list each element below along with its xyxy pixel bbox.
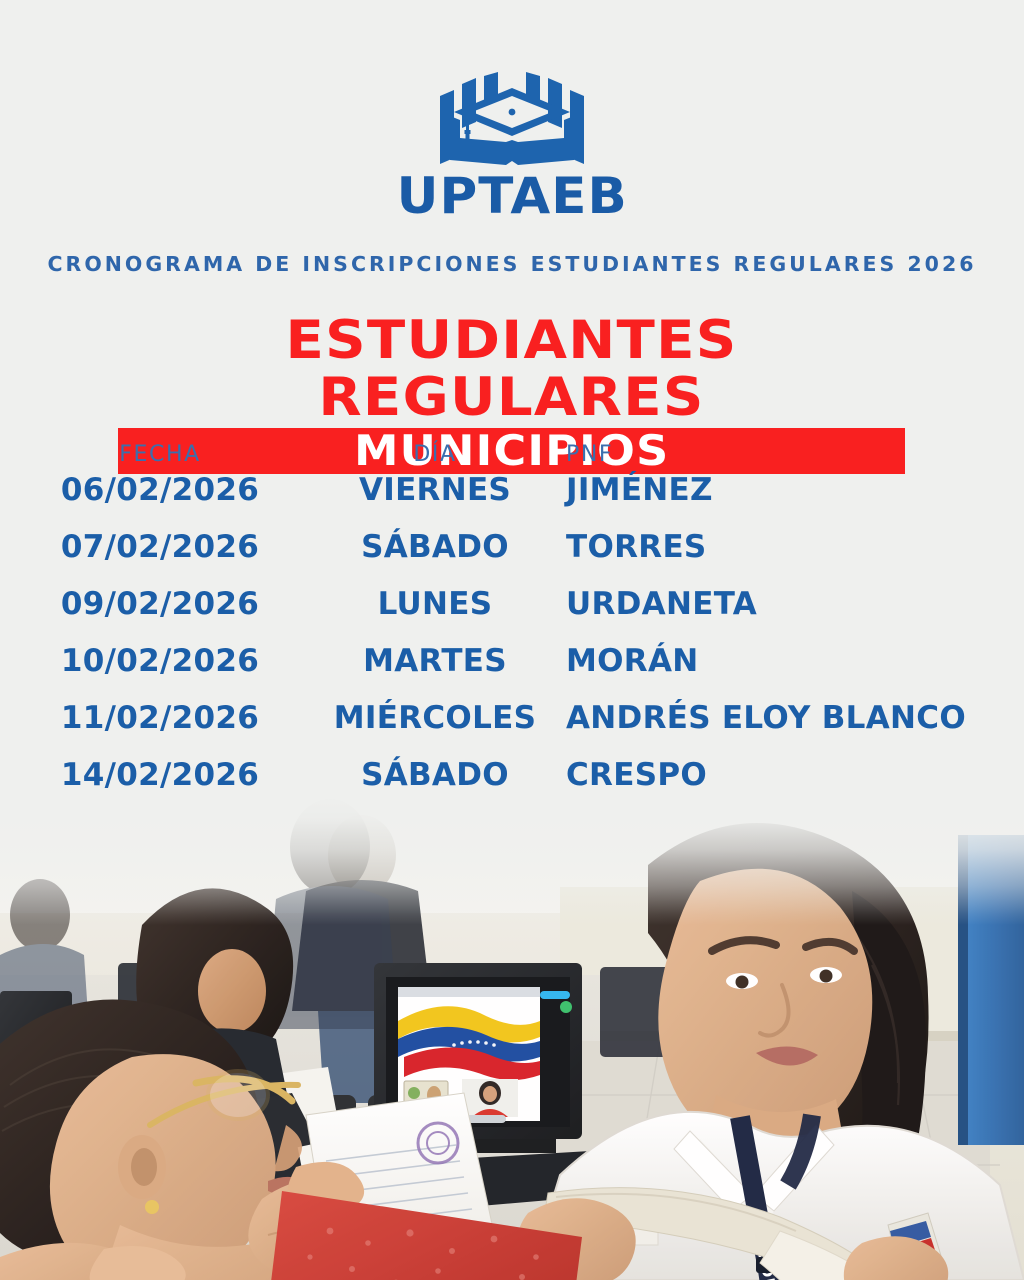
brand-wordmark: UPTAEB: [396, 171, 627, 221]
cell-dia: VIERNES: [320, 472, 550, 508]
cell-dia: SÁBADO: [320, 757, 550, 793]
table-row: 10/02/2026 MARTES MORÁN: [0, 643, 1024, 700]
table-row: 07/02/2026 SÁBADO TORRES: [0, 529, 1024, 586]
title-primary: ESTUDIANTES REGULARES: [94, 312, 928, 426]
cell-dia: SÁBADO: [320, 529, 550, 565]
cell-pnf: ANDRÉS ELOY BLANCO: [550, 700, 1024, 736]
cell-pnf: CRESPO: [550, 757, 1024, 793]
cell-fecha: 11/02/2026: [0, 700, 320, 736]
poster-root: UPTAEB CRONOGRAMA DE INSCRIPCIONES ESTUD…: [0, 0, 1024, 1280]
cell-fecha: 10/02/2026: [0, 643, 320, 679]
column-header-fecha: FECHA: [0, 442, 320, 467]
column-header-pnf: PNF: [550, 442, 1024, 467]
photo-registration-room: MADDEN: [0, 795, 1024, 1280]
photo-illustration: MADDEN: [0, 795, 1024, 1280]
table-row: 11/02/2026 MIÉRCOLES ANDRÉS ELOY BLANCO: [0, 700, 1024, 757]
page-subtitle: CRONOGRAMA DE INSCRIPCIONES ESTUDIANTES …: [0, 252, 1024, 276]
cell-dia: LUNES: [320, 586, 550, 622]
schedule-table: FECHA DÍA PNF 06/02/2026 VIERNES JIMÉNEZ…: [0, 442, 1024, 814]
cell-fecha: 09/02/2026: [0, 586, 320, 622]
cell-fecha: 07/02/2026: [0, 529, 320, 565]
cell-pnf: URDANETA: [550, 586, 1024, 622]
table-row: 09/02/2026 LUNES URDANETA: [0, 586, 1024, 643]
cell-pnf: TORRES: [550, 529, 1024, 565]
graduation-cap-book-icon: [436, 70, 588, 165]
brand-logo: UPTAEB: [0, 70, 1024, 221]
column-header-dia: DÍA: [320, 442, 550, 467]
cell-dia: MARTES: [320, 643, 550, 679]
table-header-row: FECHA DÍA PNF: [0, 442, 1024, 472]
cell-dia: MIÉRCOLES: [320, 700, 550, 736]
cell-pnf: MORÁN: [550, 643, 1024, 679]
cell-fecha: 06/02/2026: [0, 472, 320, 508]
cell-fecha: 14/02/2026: [0, 757, 320, 793]
cell-pnf: JIMÉNEZ: [550, 472, 1024, 508]
table-row: 06/02/2026 VIERNES JIMÉNEZ: [0, 472, 1024, 529]
